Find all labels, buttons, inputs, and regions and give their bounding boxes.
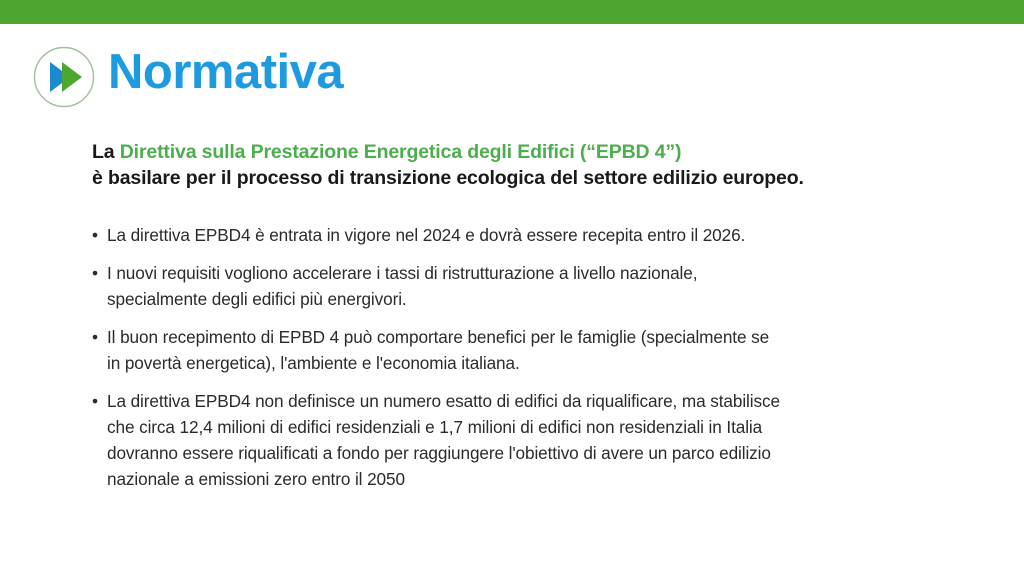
heading-prefix: La xyxy=(92,141,120,163)
double-play-arrow-icon xyxy=(33,46,95,108)
list-item: • La direttiva EPBD4 è entrata in vigore… xyxy=(92,222,982,248)
bullet-list: • La direttiva EPBD4 è entrata in vigore… xyxy=(92,222,982,492)
list-item-line: che circa 12,4 milioni di edifici reside… xyxy=(107,414,982,440)
list-item-line: I nuovi requisiti vogliono accelerare i … xyxy=(107,260,982,286)
top-accent-bar xyxy=(0,0,1024,24)
bullet-marker-icon: • xyxy=(92,260,98,286)
list-item-line: dovranno essere riqualificati a fondo pe… xyxy=(107,440,982,466)
list-item-line: nazionale a emissioni zero entro il 2050 xyxy=(107,466,982,492)
heading-highlight: Direttiva sulla Prestazione Energetica d… xyxy=(120,141,682,163)
bullet-marker-icon: • xyxy=(92,222,98,248)
slide-header: Normativa xyxy=(0,24,1024,120)
bullet-marker-icon: • xyxy=(92,388,98,414)
list-item-line: Il buon recepimento di EPBD 4 può compor… xyxy=(107,324,982,350)
list-item-line: La direttiva EPBD4 è entrata in vigore n… xyxy=(107,222,982,248)
list-item: • La direttiva EPBD4 non definisce un nu… xyxy=(92,388,982,492)
page-title: Normativa xyxy=(108,42,343,102)
list-item: • I nuovi requisiti vogliono accelerare … xyxy=(92,260,982,312)
list-item-line: specialmente degli edifici più energivor… xyxy=(107,286,982,312)
heading-line-2: è basilare per il processo di transizion… xyxy=(92,165,992,191)
slide-heading: La Direttiva sulla Prestazione Energetic… xyxy=(92,139,992,191)
bullet-marker-icon: • xyxy=(92,324,98,350)
list-item-line: La direttiva EPBD4 non definisce un nume… xyxy=(107,388,982,414)
list-item: • Il buon recepimento di EPBD 4 può comp… xyxy=(92,324,982,376)
list-item-line: in povertà energetica), l'ambiente e l'e… xyxy=(107,350,982,376)
heading-line-1: La Direttiva sulla Prestazione Energetic… xyxy=(92,139,992,165)
